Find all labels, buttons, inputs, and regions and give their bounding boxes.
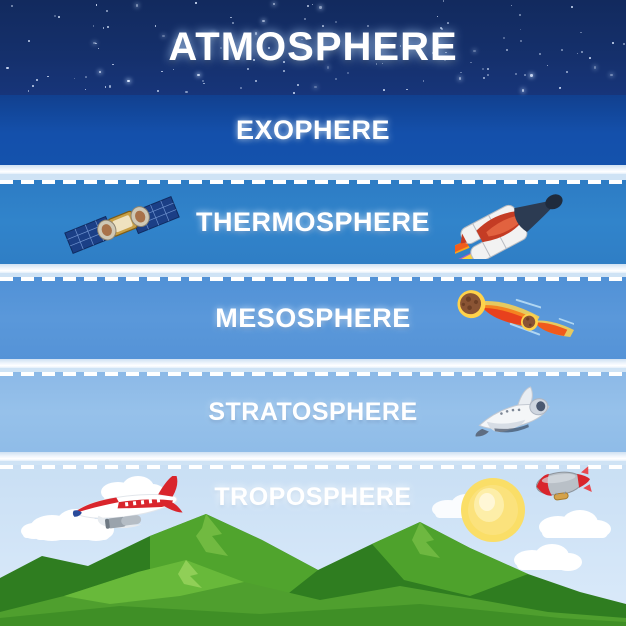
meteor-small-icon <box>514 310 574 352</box>
layer-label-stratosphere: STRATOSPHERE <box>208 398 417 427</box>
airplane-icon <box>68 476 190 546</box>
layer-band-sky: ATMOSPHERE <box>0 0 626 95</box>
airship-icon <box>533 466 593 510</box>
dashed-line-stratosphere-top <box>0 372 626 376</box>
separator-exosphere-thermosphere <box>0 165 626 174</box>
dashed-line-mesosphere-top <box>0 277 626 281</box>
page-title: ATMOSPHERE <box>168 25 457 70</box>
layer-label-thermosphere: THERMOSPHERE <box>196 207 430 238</box>
cloud-icon <box>20 516 70 540</box>
separator-mesosphere-stratosphere <box>0 359 626 368</box>
space-shuttle-launch-icon <box>455 183 585 259</box>
layer-band-exosphere: EXOPHERE <box>0 95 626 165</box>
layer-label-troposphere: TROPOSPHERE <box>214 483 411 512</box>
satellite-icon <box>62 191 182 259</box>
separator-thermosphere-mesosphere <box>0 264 626 273</box>
sun-icon <box>455 472 531 548</box>
atmosphere-poster: ATMOSPHERE EXOPHERE THERMOSPHERE <box>0 0 626 626</box>
separator-stratosphere-troposphere <box>0 452 626 461</box>
layer-label-mesosphere: MESOSPHERE <box>215 303 411 334</box>
space-shuttle-orbiter-icon <box>472 386 556 444</box>
layer-label-exosphere: EXOPHERE <box>236 115 390 146</box>
